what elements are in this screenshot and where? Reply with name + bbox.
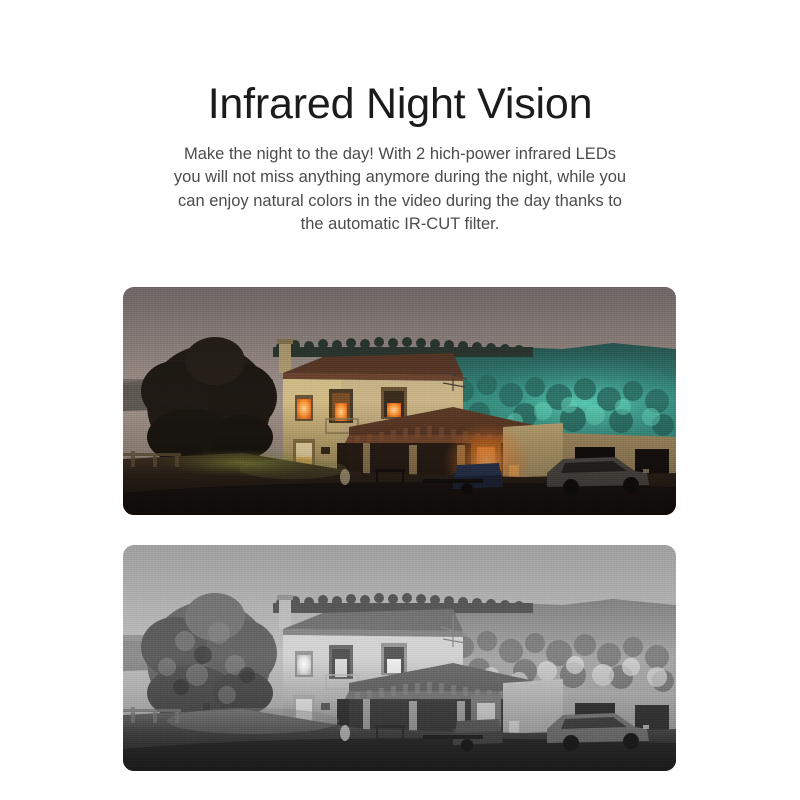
product-feature-page: Infrared Night Vision Make the night to … [0, 0, 800, 800]
description-line-1: Make the night to the day! With 2 hich-p… [128, 143, 672, 167]
description-line-3: can enjoy natural colors in the video du… [128, 190, 672, 214]
page-title: Infrared Night Vision [0, 77, 800, 131]
feature-description: Make the night to the day! With 2 hich-p… [128, 143, 672, 237]
ir-cut-grayscale-photo [123, 545, 676, 771]
vignette [123, 287, 676, 515]
night-scene-illustration [123, 287, 676, 515]
description-line-2: you will not miss anything anymore durin… [128, 166, 672, 190]
vignette [123, 545, 676, 771]
night-color-photo [123, 287, 676, 515]
description-line-4: the automatic IR-CUT filter. [128, 213, 672, 237]
infrared-scene-illustration [123, 545, 676, 771]
